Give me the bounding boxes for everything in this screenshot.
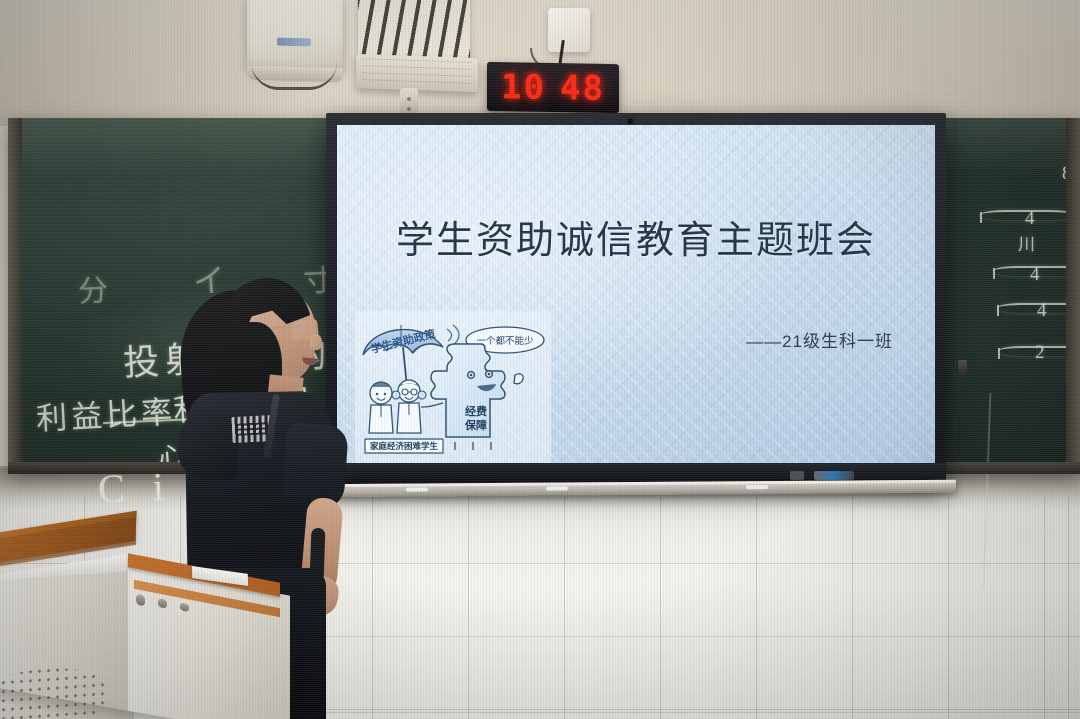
lectern — [0, 508, 314, 719]
chalk-brace-4-number: 2 — [1035, 342, 1045, 364]
slide-illustration: 学生资助政策 一个都不能少 — [355, 311, 551, 463]
clock-hours: 10 — [501, 70, 546, 105]
tray-mark — [406, 487, 428, 491]
wifi-access-point — [548, 8, 590, 52]
chalk-text-line6: 利益比率 — [35, 386, 177, 438]
caption-label: 家庭经济困难学生 — [370, 441, 439, 451]
tray-mark — [746, 485, 768, 489]
chalk-brace-2 — [993, 266, 1080, 276]
blackboard-seam — [954, 118, 957, 474]
screen-sensor-icon — [628, 119, 633, 124]
speech-bubble-label: 一个都不能少 — [476, 335, 534, 347]
chalk-brace-3-number: 4 — [1037, 300, 1047, 322]
chalk-brace-2-number: 4 — [1030, 264, 1040, 286]
character-body-label-2: 保障 — [464, 418, 487, 432]
chalk-formula-w: W = — [1011, 518, 1058, 549]
chalk-right-top-number: 8 — [1062, 163, 1072, 185]
slide-surface: 学生资助诚信教育主题班会 ——21级生科一班 — [337, 125, 935, 463]
glasses-lens-icon — [291, 319, 319, 341]
chalk-brace-1-number: 4 — [1025, 208, 1035, 230]
chalk-brace-3 — [997, 303, 1080, 313]
screen-mount-bracket — [958, 360, 967, 376]
chalk-mid-label: 川 — [1018, 230, 1035, 255]
chalk-brace-1 — [980, 210, 1075, 220]
character-body-label-1: 经费 — [465, 404, 487, 418]
screen-port-secondary[interactable] — [790, 471, 804, 480]
blackboard-frame-left — [8, 118, 22, 474]
digital-wall-clock: 10 48 — [487, 62, 619, 113]
chalk-brace-4 — [998, 346, 1080, 356]
blackboard-frame-right — [1066, 118, 1080, 474]
clock-minutes: 48 — [560, 71, 605, 106]
air-conditioner-badge — [277, 38, 311, 47]
slide-title: 学生资助诚信教育主题班会 — [337, 209, 935, 264]
classroom-photo-scene: 10 48 分 イ 寸 投射构成 错构成 利益比率 利润空间 心 C i U 8… — [0, 0, 1080, 719]
tray-mark — [546, 486, 568, 490]
slide-subtitle: ——21级生科一班 — [746, 327, 893, 352]
screen-port-indicator[interactable] — [814, 471, 854, 480]
vent-base — [356, 54, 478, 92]
interactive-display-screen[interactable]: 学生资助诚信教育主题班会 ——21级生科一班 — [326, 113, 946, 485]
presenter-shoulder — [178, 410, 238, 480]
chalk-text-line1: 分 — [77, 265, 109, 311]
